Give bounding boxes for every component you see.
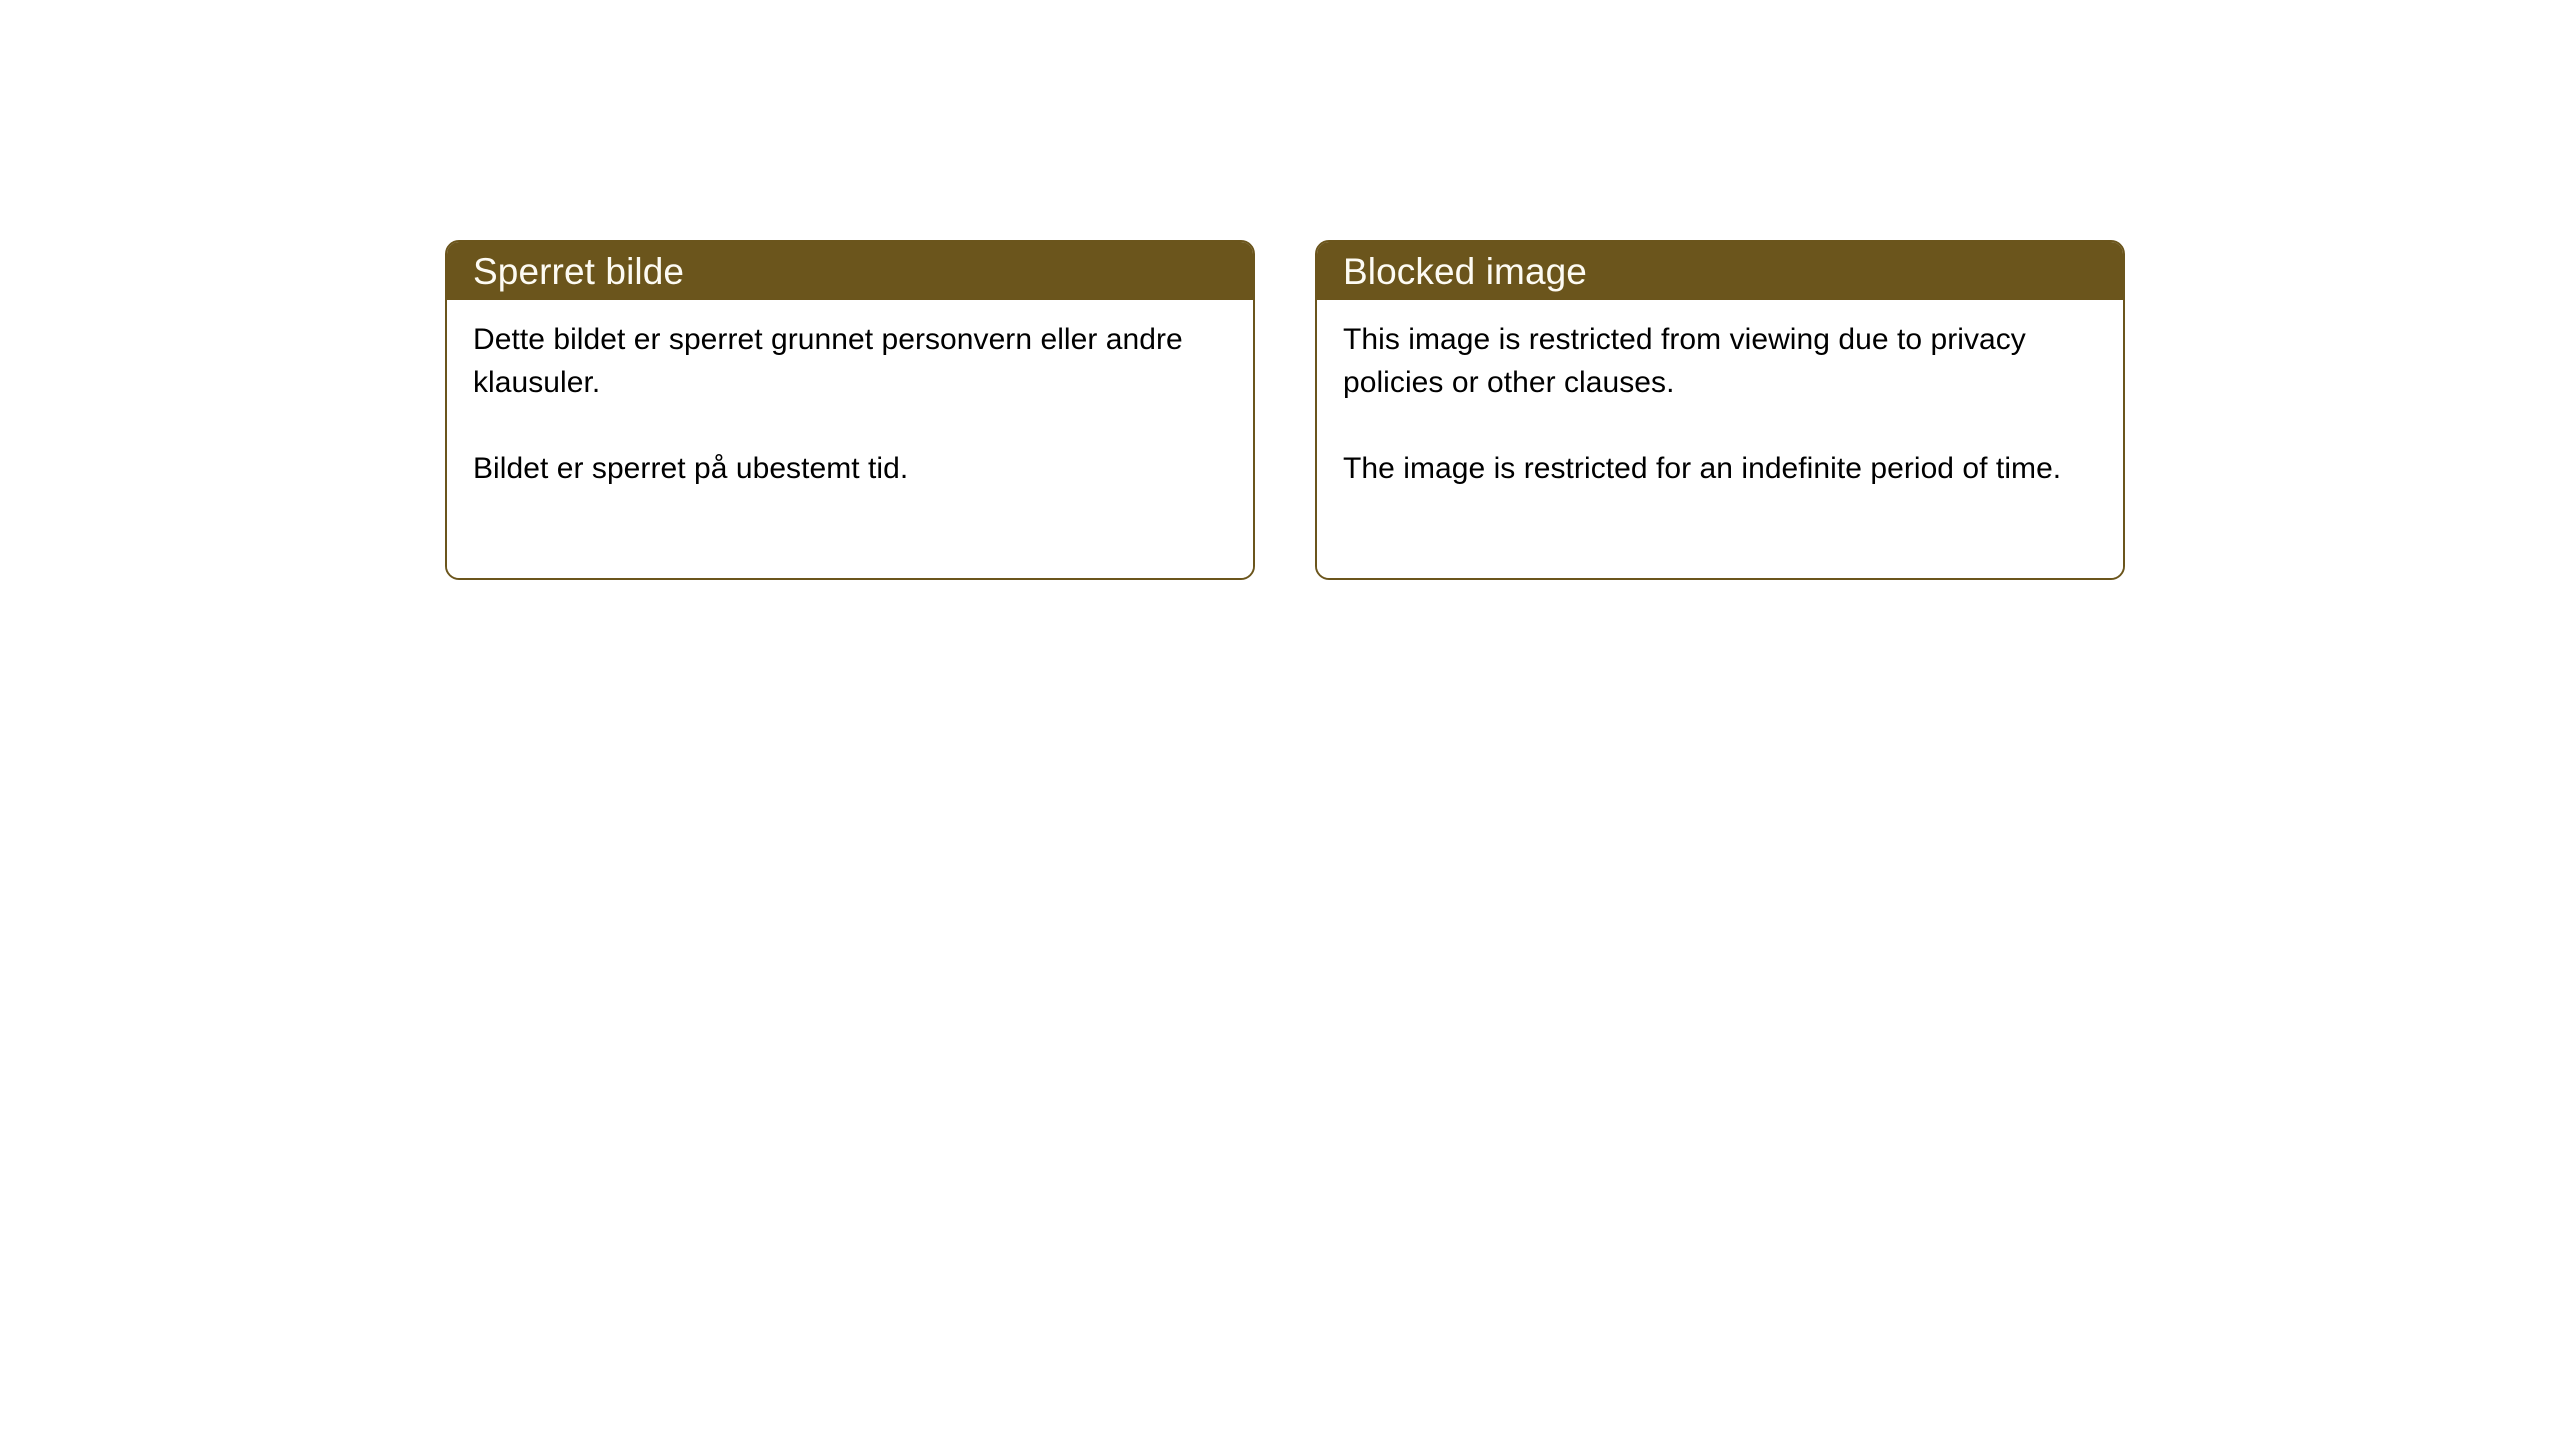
- panel-body-norwegian: Dette bildet er sperret grunnet personve…: [447, 300, 1253, 578]
- panel-body-english: This image is restricted from viewing du…: [1317, 300, 2123, 578]
- panel-paragraph-reason-english: This image is restricted from viewing du…: [1343, 318, 2099, 404]
- panel-paragraph-duration-english: The image is restricted for an indefinit…: [1343, 447, 2099, 490]
- blocked-image-panel-english: Blocked image This image is restricted f…: [1315, 240, 2125, 580]
- panel-paragraph-reason-norwegian: Dette bildet er sperret grunnet personve…: [473, 318, 1229, 404]
- panel-title-english: Blocked image: [1343, 253, 1587, 290]
- panel-paragraph-duration-norwegian: Bildet er sperret på ubestemt tid.: [473, 447, 1229, 490]
- panel-header-english: Blocked image: [1317, 242, 2123, 300]
- panel-header-norwegian: Sperret bilde: [447, 242, 1253, 300]
- panel-title-norwegian: Sperret bilde: [473, 253, 684, 290]
- blocked-image-panel-norwegian: Sperret bilde Dette bildet er sperret gr…: [445, 240, 1255, 580]
- blocked-image-notice-area: Sperret bilde Dette bildet er sperret gr…: [445, 240, 2125, 580]
